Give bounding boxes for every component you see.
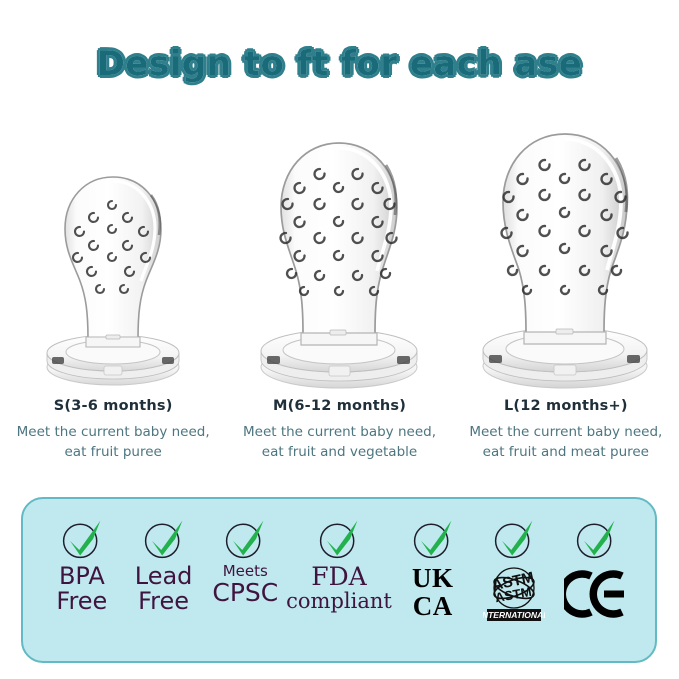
certification-label-fda: FDA compliant [286,564,392,612]
size-label-small: S(3-6 months) [8,398,218,414]
silicone-feeder-nipple-large-icon [463,120,668,395]
green-check-circle-icon [59,516,105,562]
product-caption-small: S(3-6 months) Meet the current baby need… [0,398,226,462]
green-check-circle-icon [573,516,619,562]
certification-badge-bpa: BPA Free [41,516,123,644]
certification-badge-fda: FDA compliant [286,516,392,644]
cert-line1: BPA [56,564,107,589]
page-title-text: Design to ft for each ase [97,44,583,84]
certification-badge-ukca: UK CA [392,516,474,644]
green-check-circle-icon [491,516,537,562]
product-image-row [0,110,679,395]
certification-label-bpa: BPA Free [56,564,107,614]
product-image-small [0,110,226,395]
size-description-medium: Meet the current baby need, eat fruit an… [234,423,444,462]
product-caption-large: L(12 months+) Meet the current baby need… [453,398,679,462]
certification-label-cpsc: Meets CPSC [212,564,278,606]
astm-wordmark: INTERNATIONAL [483,610,545,620]
green-check-circle-icon [141,516,187,562]
green-check-circle-icon [222,516,268,562]
certification-label-lead: Lead Free [135,564,193,614]
certification-panel: BPA Free Lead Free Meets CPSC FD [21,497,657,663]
cert-line2: CPSC [212,580,278,606]
cert-line1: FDA [286,564,392,590]
cert-line2: Free [56,589,107,614]
certification-badge-lead: Lead Free [123,516,205,644]
product-image-large [453,110,679,395]
green-check-circle-icon [410,516,456,562]
cert-line1: UK [412,564,454,592]
certification-badge-ce [555,516,637,644]
silicone-feeder-nipple-small-icon [28,155,198,395]
certification-label-ukca: UK CA [412,564,454,621]
size-label-large: L(12 months+) [461,398,671,414]
silicone-feeder-nipple-medium-icon [242,127,437,395]
size-description-large: Meet the current baby need, eat fruit an… [461,423,671,462]
certification-badge-cpsc: Meets CPSC [204,516,286,644]
cert-line1: Lead [135,564,193,589]
certification-badge-astm: ASTM ASTM INTERNATIONAL [474,516,556,644]
cert-line2: CA [412,592,454,620]
astm-international-logo-icon: ASTM ASTM INTERNATIONAL [483,566,545,624]
product-image-medium [226,110,452,395]
ce-marking-icon [564,570,628,618]
product-caption-row: S(3-6 months) Meet the current baby need… [0,398,679,462]
page-title: Design to ft for each ase [0,44,679,84]
product-caption-medium: M(6-12 months) Meet the current baby nee… [226,398,452,462]
green-check-circle-icon [316,516,362,562]
size-description-small: Meet the current baby need, eat fruit pu… [8,423,218,462]
cert-line2: Free [135,589,193,614]
size-label-medium: M(6-12 months) [234,398,444,414]
cert-line2: compliant [286,590,392,612]
